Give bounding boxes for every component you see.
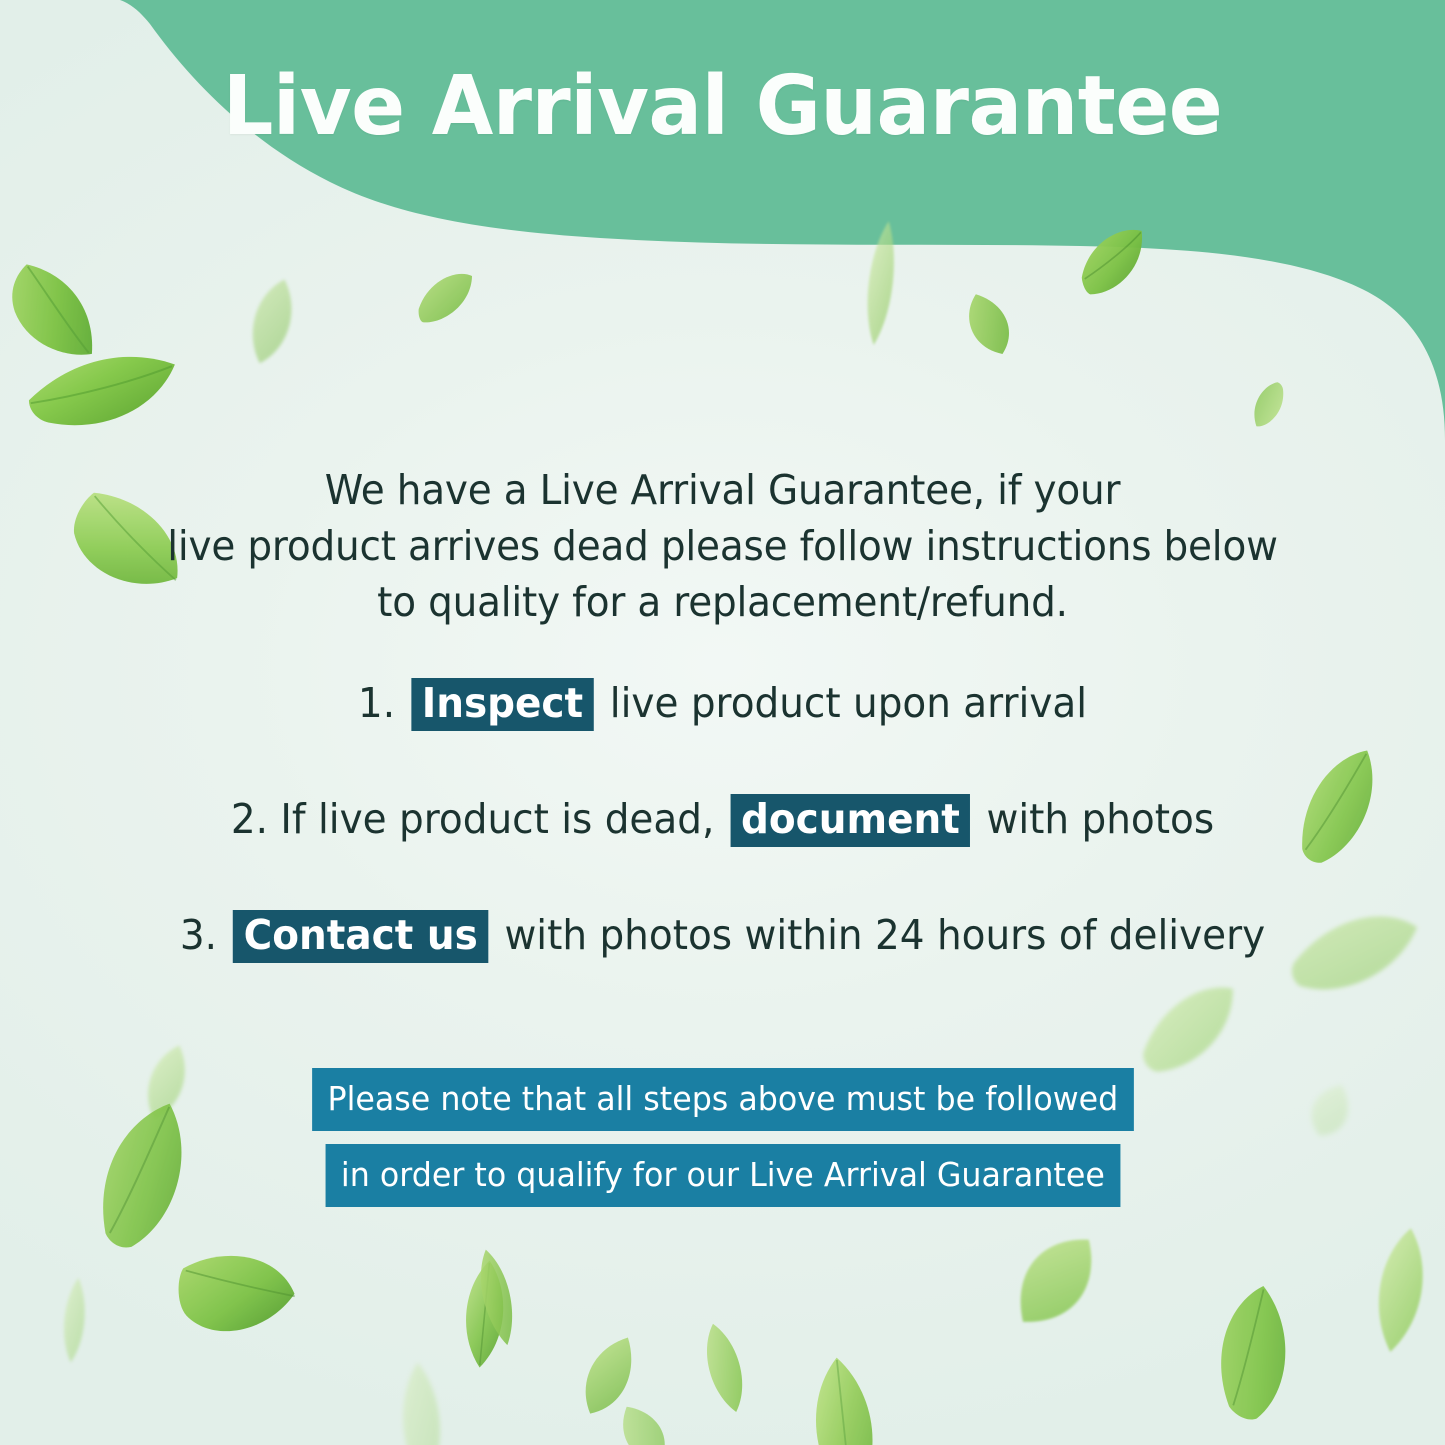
- step-text-after: with photos within 24 hours of delivery: [504, 911, 1265, 959]
- leaf-icon: [1354, 1220, 1445, 1360]
- step-keyword-badge: Inspect: [411, 678, 593, 731]
- step-number: 1.: [358, 679, 395, 727]
- intro-paragraph: We have a Live Arrival Guarantee, if you…: [36, 462, 1409, 630]
- footer-note-line-2: in order to qualify for our Live Arrival…: [325, 1144, 1120, 1207]
- step-item: 1. Inspect live product upon arrival: [36, 678, 1409, 731]
- step-text-after: with photos: [986, 795, 1214, 843]
- poster-canvas: Live Arrival Guarantee: [0, 0, 1445, 1445]
- intro-line-2: live product arrives dead please follow …: [36, 518, 1409, 574]
- leaf-icon: [1174, 1273, 1337, 1437]
- step-text-after: live product upon arrival: [610, 679, 1087, 727]
- leaf-icon: [449, 1255, 518, 1372]
- step-keyword-badge: Contact us: [233, 910, 488, 963]
- page-title: Live Arrival Guarantee: [22, 66, 1424, 148]
- step-number: 2.: [231, 795, 268, 843]
- step-item: 2. If live product is dead, document wit…: [36, 794, 1409, 847]
- intro-line-1: We have a Live Arrival Guarantee, if you…: [36, 462, 1409, 518]
- step-text-before: If live product is dead,: [280, 795, 714, 843]
- footer-note-line-1: Please note that all steps above must be…: [312, 1068, 1133, 1131]
- step-item: 3. Contact us with photos within 24 hour…: [36, 910, 1409, 963]
- footer-note: Please note that all steps above must be…: [0, 1068, 1445, 1207]
- leaf-icon: [978, 1203, 1133, 1358]
- leaf-icon: [172, 1244, 303, 1347]
- step-number: 3.: [180, 911, 217, 959]
- step-keyword-badge: document: [731, 794, 971, 847]
- intro-line-3: to quality for a replacement/refund.: [36, 574, 1409, 630]
- leaf-icon: [465, 1242, 528, 1353]
- leaf-icon: [53, 1274, 94, 1367]
- leaf-icon: [392, 1359, 451, 1445]
- steps-list: 1. Inspect live product upon arrival 2. …: [0, 678, 1445, 963]
- leaf-icon: [601, 1391, 684, 1445]
- leaf-icon: [689, 1316, 759, 1421]
- leaf-icon: [558, 1320, 659, 1430]
- leaf-icon: [794, 1352, 893, 1445]
